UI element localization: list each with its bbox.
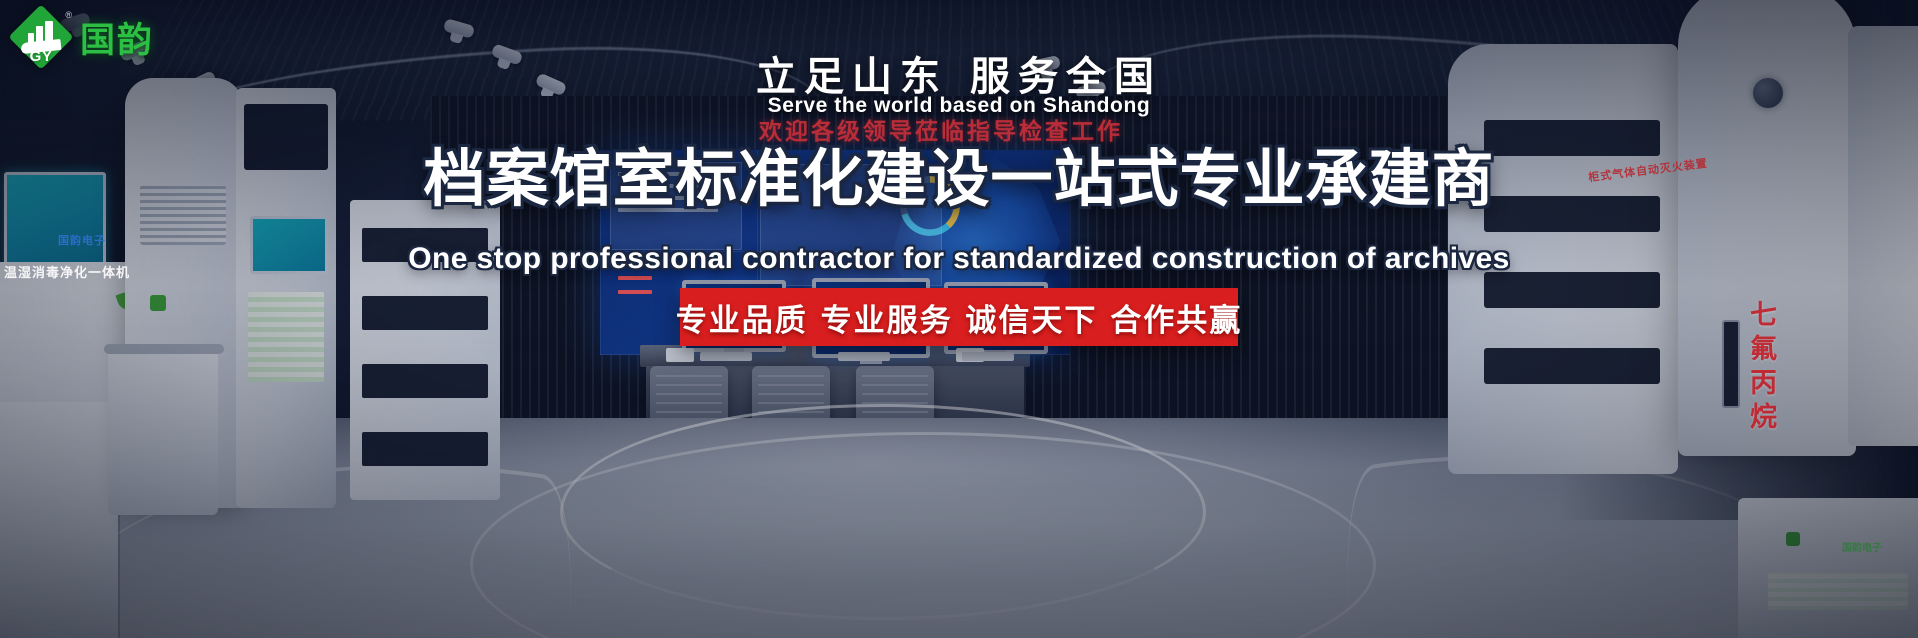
bottom-equipment-unit	[1738, 498, 1918, 638]
shelf-slot	[362, 296, 488, 330]
shelf-slot	[362, 364, 488, 398]
left-floor-panel	[0, 402, 118, 638]
logo-initials: GY	[12, 48, 70, 65]
shelf-slot	[1484, 272, 1660, 308]
tagline-english: Serve the world based on Shandong	[0, 94, 1918, 118]
company-name: 国韵	[80, 12, 154, 63]
trademark-icon: ®	[65, 10, 72, 20]
main-headline: 档案馆室标准化建设一站式专业承建商	[0, 128, 1918, 218]
shelf-slot	[1484, 348, 1660, 384]
alert-text-line	[618, 276, 652, 280]
unit-vent-grille	[1768, 572, 1908, 610]
alert-text-line	[618, 290, 652, 294]
heptafluoropropane-vertical-label: 七氟丙烷	[1741, 300, 1780, 436]
keyboard	[700, 352, 752, 361]
gy-diamond-building-logo-icon: GY ®	[12, 8, 70, 66]
cart-handle	[104, 344, 224, 354]
sub-headline-english: One stop professional contractor for sta…	[0, 242, 1918, 276]
hero-banner: 柜式气体自动灭火装置 七氟丙烷 温湿消毒净化一体机 国韵电子 国韵电子 GY ®…	[0, 0, 1918, 638]
slogan-text: 专业品质 专业服务 诚信天下 合作共赢	[676, 295, 1242, 340]
shelf-slot	[362, 432, 488, 466]
bottom-unit-brand-label: 国韵电子	[1842, 539, 1882, 554]
keyboard	[838, 352, 890, 361]
mobile-equipment-cart	[108, 350, 218, 515]
cabinet-vent-grille	[248, 292, 324, 382]
brand-mark-icon	[1786, 532, 1800, 546]
slogan-red-bar: 专业品质 专业服务 诚信天下 合作共赢	[680, 288, 1238, 346]
desk-phone	[666, 348, 694, 362]
cabinet-indicator-slot	[1722, 320, 1740, 408]
keyboard	[962, 352, 1014, 361]
brand-mark-icon	[150, 295, 166, 311]
logo-inner: GY	[12, 8, 70, 66]
company-logo[interactable]: GY ® 国韵	[12, 8, 154, 66]
